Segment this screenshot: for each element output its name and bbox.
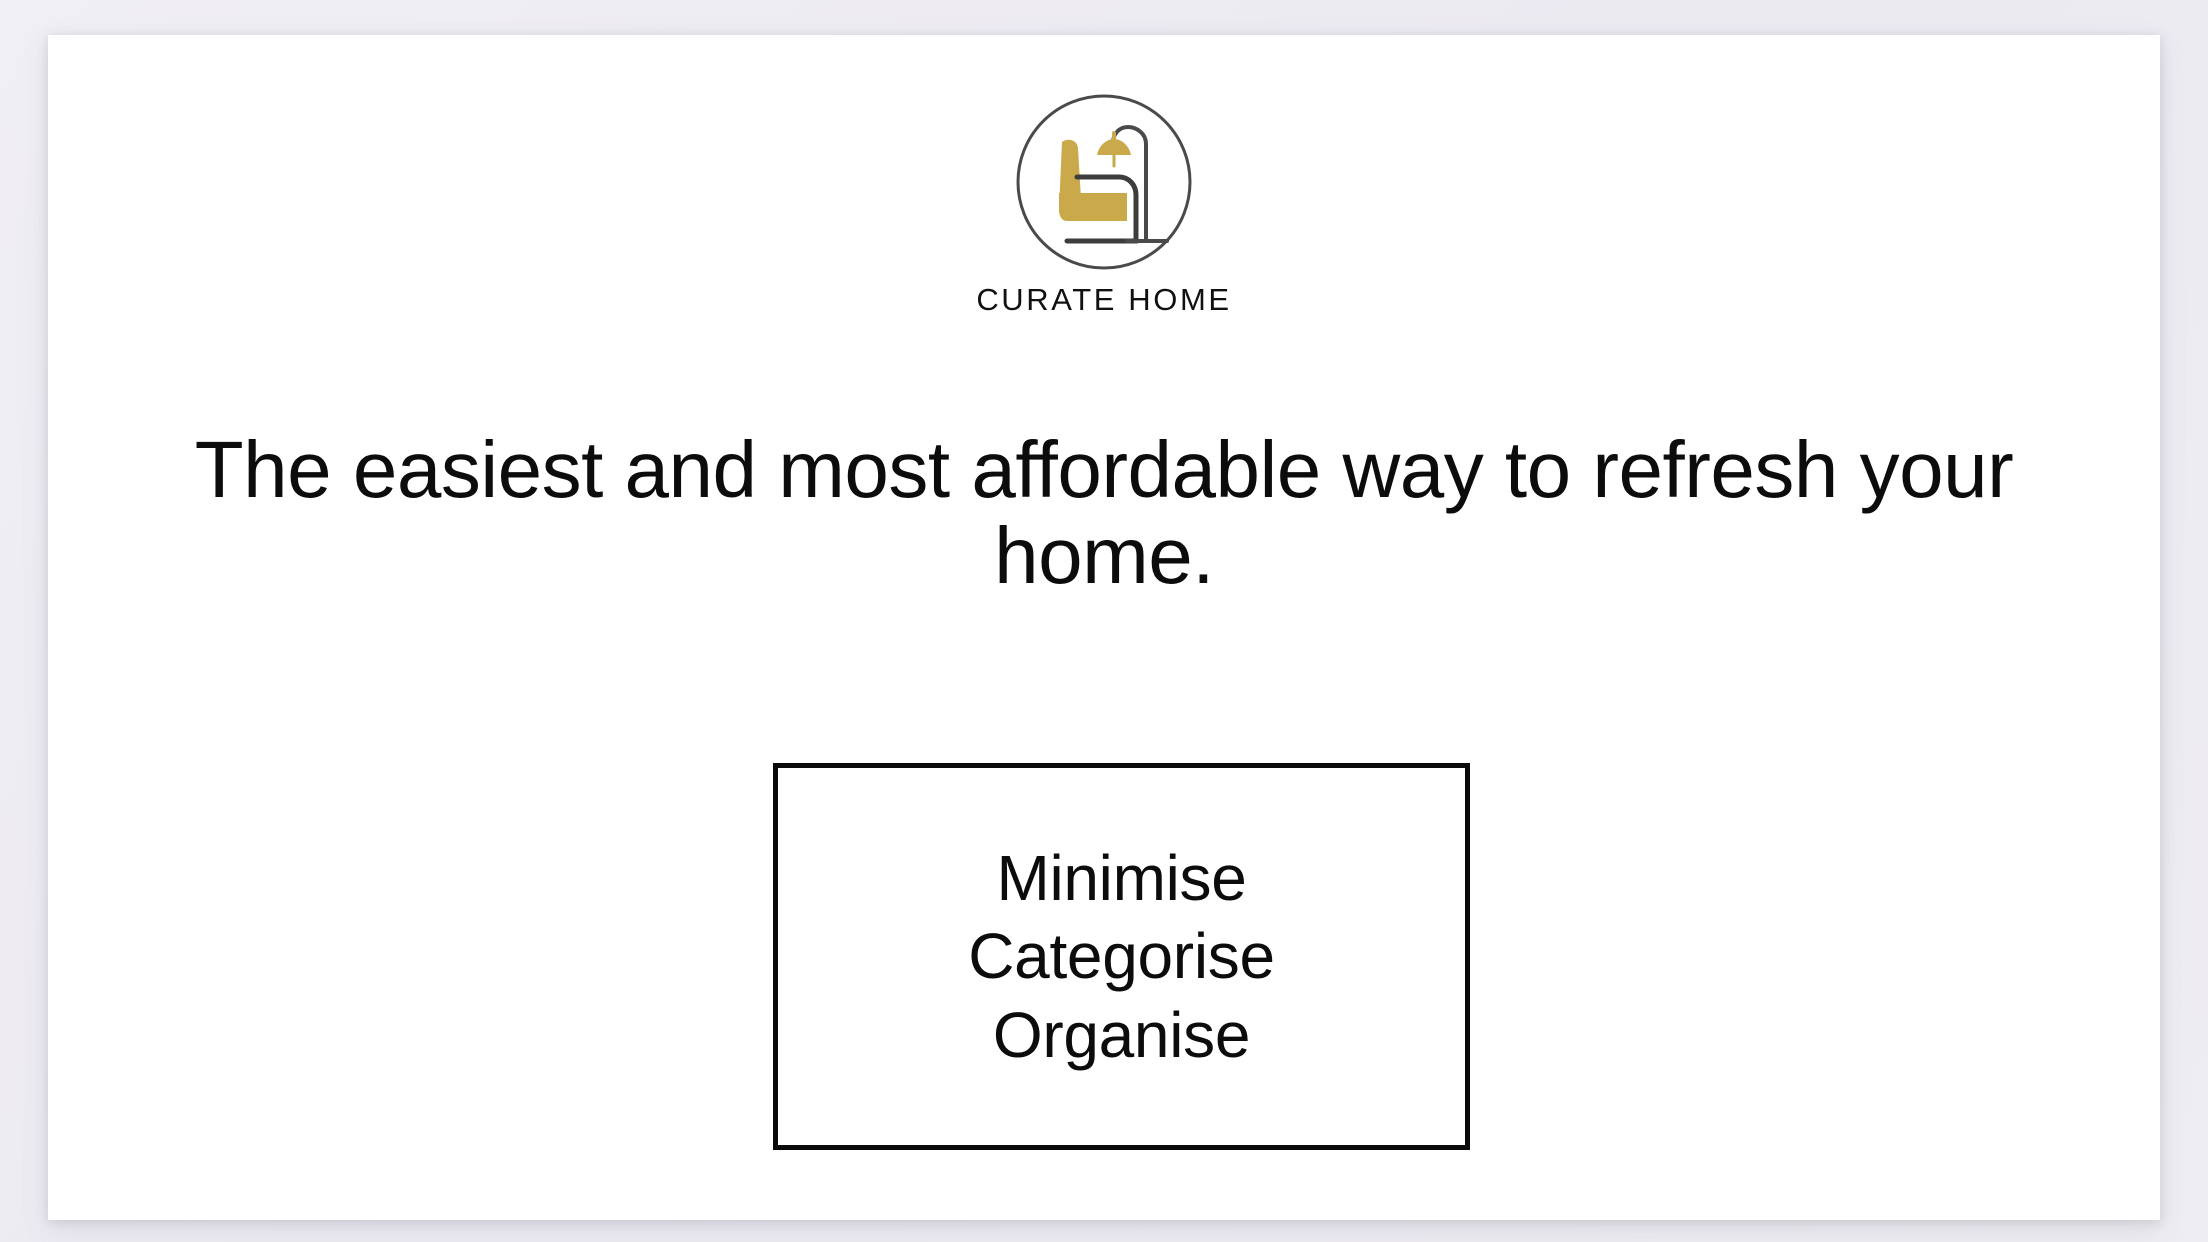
slide-card: CURATE HOME The easiest and most afforda…: [48, 35, 2160, 1220]
brand-wordmark: CURATE HOME: [48, 284, 2160, 315]
brand-block: CURATE HOME: [48, 93, 2160, 315]
list-item: Organise: [993, 996, 1250, 1074]
list-item: Categorise: [968, 917, 1275, 995]
page-title: The easiest and most affordable way to r…: [154, 427, 2054, 598]
list-item: Minimise: [996, 839, 1246, 917]
curate-home-chair-lamp-circle-logo-icon: [1015, 93, 1193, 271]
page-backdrop: CURATE HOME The easiest and most afforda…: [0, 0, 2208, 1242]
slide-content: CURATE HOME The easiest and most afforda…: [48, 35, 2160, 1220]
value-props-box: Minimise Categorise Organise: [773, 763, 1470, 1150]
